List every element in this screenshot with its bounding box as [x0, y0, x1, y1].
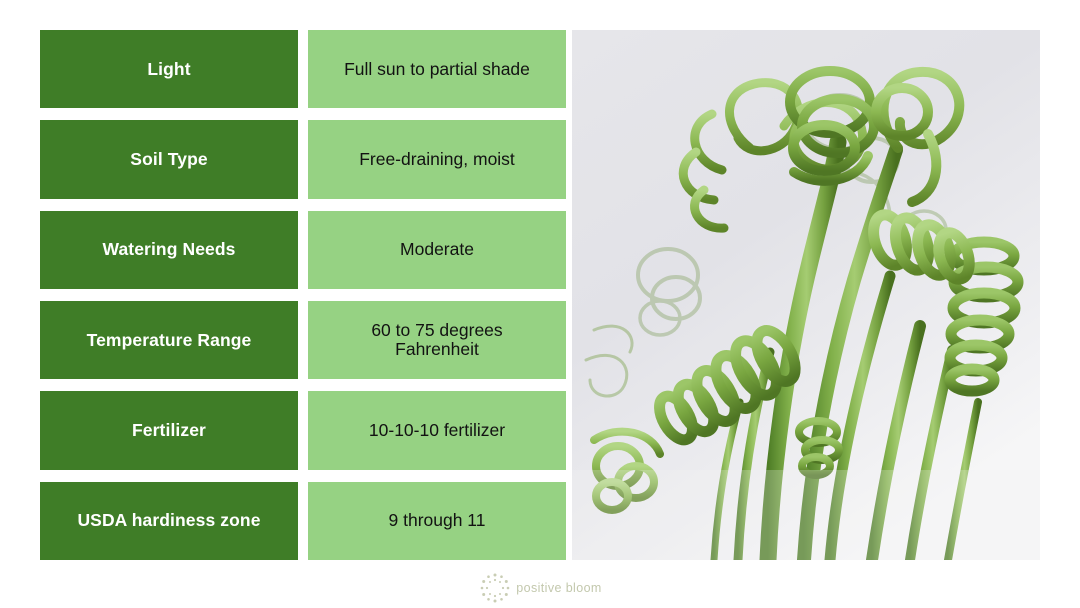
table-row: Temperature Range 60 to 75 degrees Fahre… — [40, 301, 566, 379]
table-row: Watering Needs Moderate — [40, 211, 566, 289]
spec-label-light: Light — [40, 30, 298, 108]
spec-label-soil-type: Soil Type — [40, 120, 298, 198]
infographic-card: Light Full sun to partial shade Soil Typ… — [0, 0, 1080, 608]
table-row: Soil Type Free-draining, moist — [40, 120, 566, 198]
column-gap — [298, 301, 308, 379]
watermark: positive bloom — [0, 568, 1080, 608]
table-row: Fertilizer 10-10-10 fertilizer — [40, 391, 566, 469]
watermark-brand-text: positive bloom — [516, 581, 602, 595]
dotted-ring-icon — [478, 571, 512, 605]
spec-value-light: Full sun to partial shade — [308, 30, 566, 108]
column-gap — [298, 211, 308, 289]
spec-value-usda-hardiness-zone: 9 through 11 — [308, 482, 566, 560]
spec-label-usda-hardiness-zone: USDA hardiness zone — [40, 482, 298, 560]
spec-label-fertilizer: Fertilizer — [40, 391, 298, 469]
column-gap — [298, 391, 308, 469]
spec-label-temperature-range: Temperature Range — [40, 301, 298, 379]
spec-value-watering-needs: Moderate — [308, 211, 566, 289]
column-gap — [298, 120, 308, 198]
spiral-grass-illustration — [572, 30, 1040, 560]
table-row: Light Full sun to partial shade — [40, 30, 566, 108]
spec-value-temperature-range: 60 to 75 degrees Fahrenheit — [308, 301, 566, 379]
plant-photo — [572, 30, 1040, 560]
spec-value-soil-type: Free-draining, moist — [308, 120, 566, 198]
column-gap — [298, 482, 308, 560]
column-gap — [298, 30, 308, 108]
plant-care-spec-table: Light Full sun to partial shade Soil Typ… — [40, 30, 566, 560]
spec-label-watering-needs: Watering Needs — [40, 211, 298, 289]
table-row: USDA hardiness zone 9 through 11 — [40, 482, 566, 560]
spec-value-fertilizer: 10-10-10 fertilizer — [308, 391, 566, 469]
